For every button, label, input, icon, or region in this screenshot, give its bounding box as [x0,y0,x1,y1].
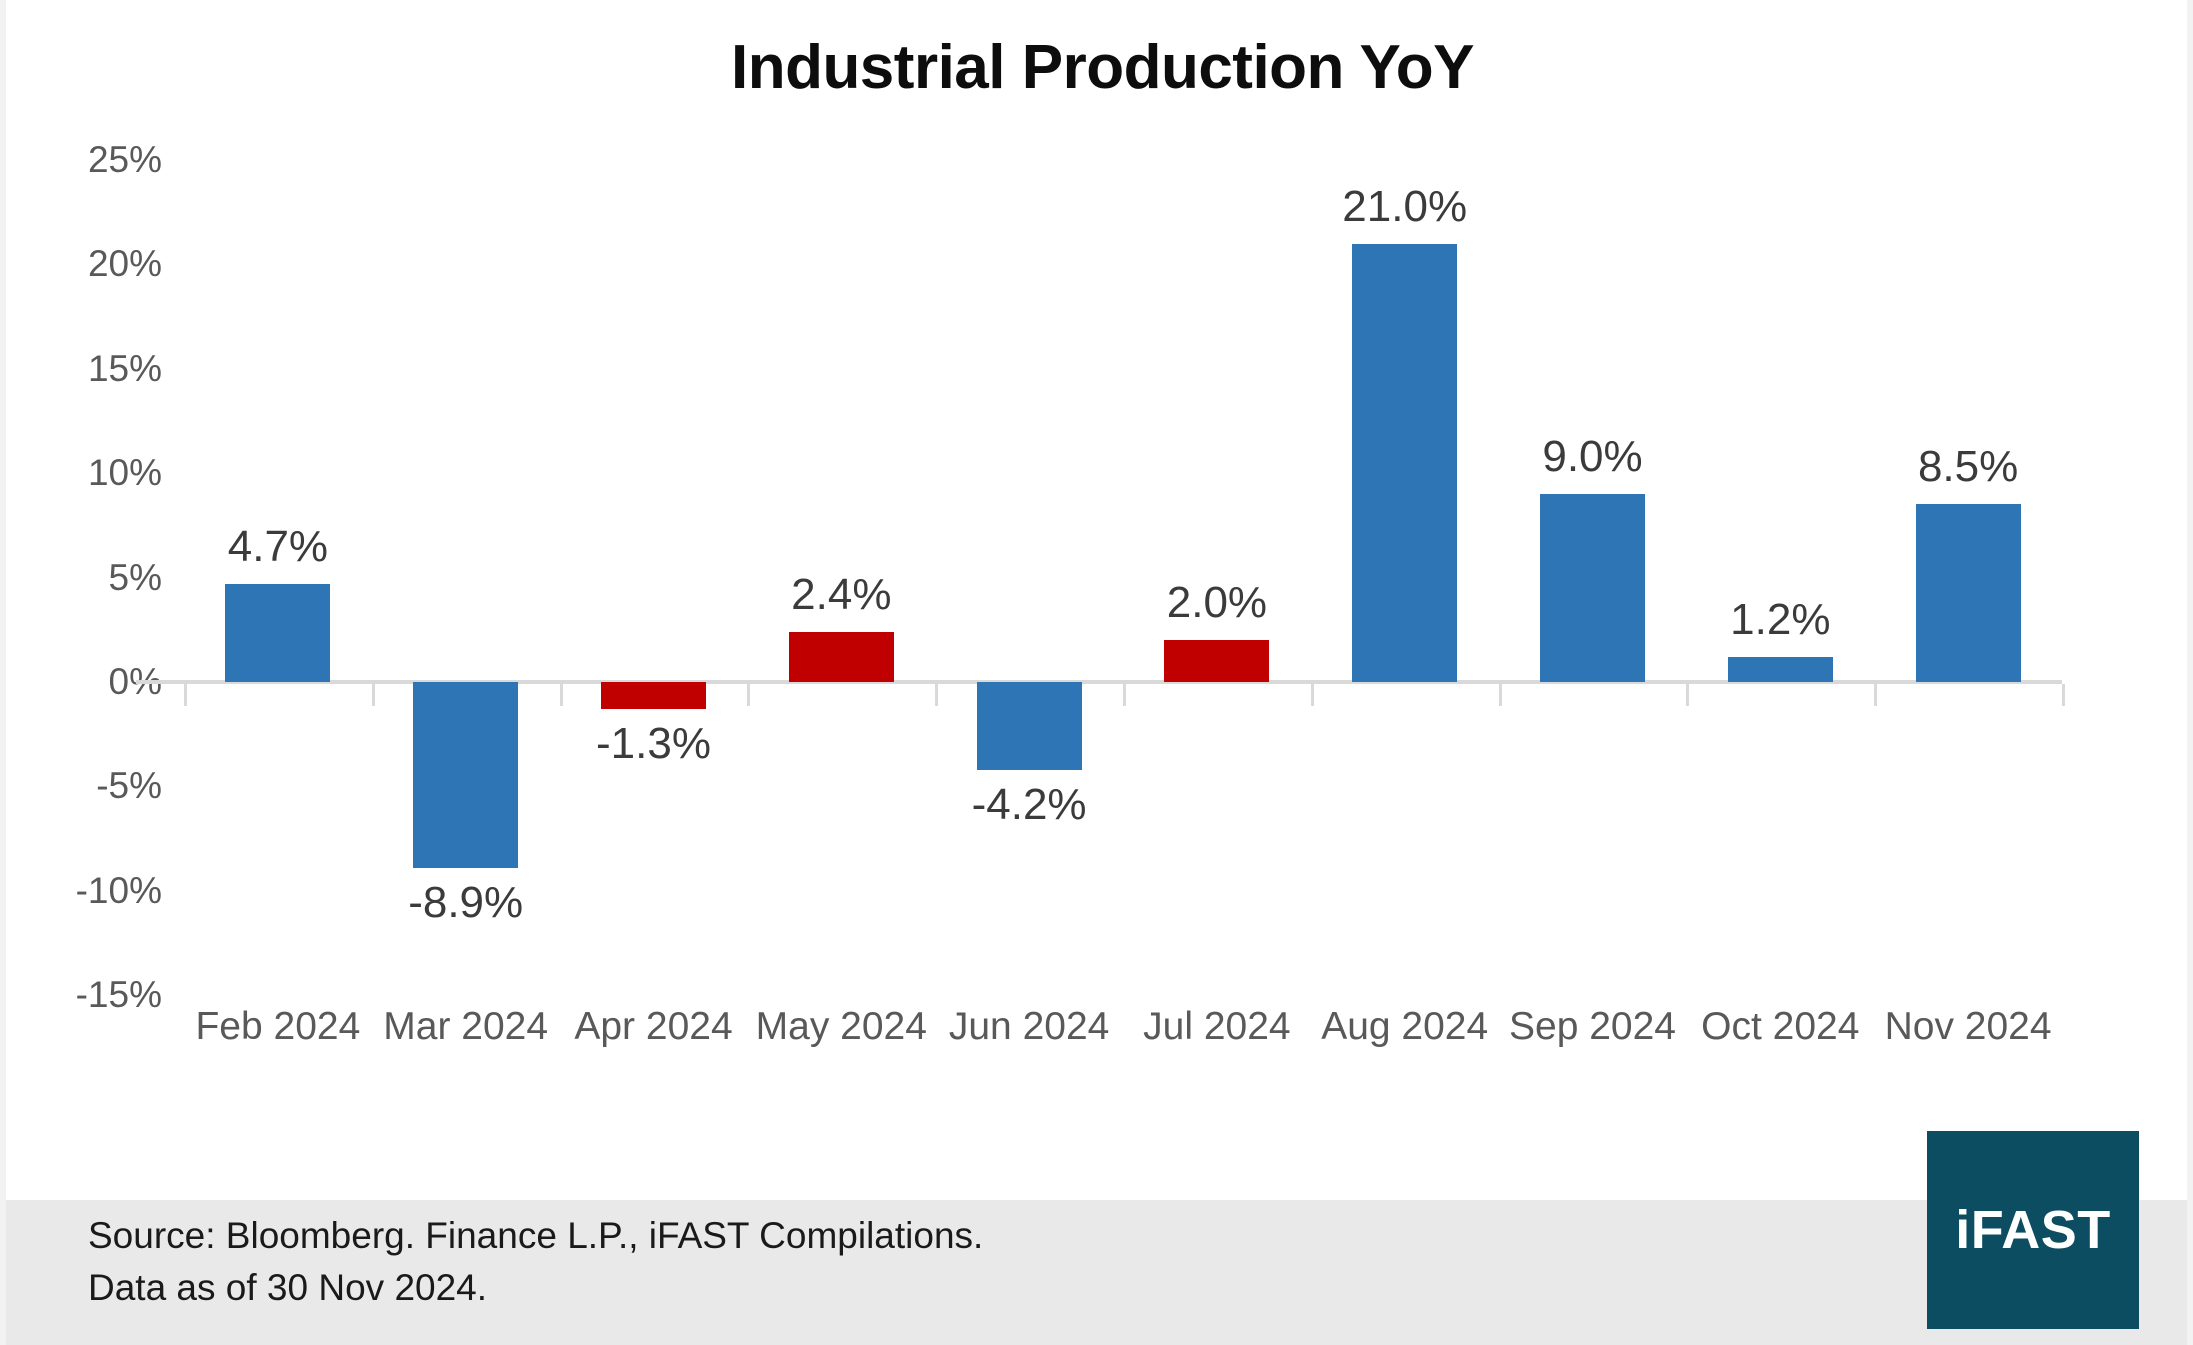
category-tick [1311,684,1314,706]
bar-value-label: 8.5% [1918,442,2018,492]
bar-may-2024[interactable] [789,632,894,682]
bar-value-label: 2.0% [1167,578,1267,628]
category-tick [560,684,563,706]
bar-apr-2024[interactable] [601,682,706,709]
y-axis-tick-label: -10% [76,870,162,912]
bar-mar-2024[interactable] [413,682,518,868]
bar-jul-2024[interactable] [1164,640,1269,682]
y-axis-tick-label: -15% [76,974,162,1016]
category-tick [1123,684,1126,706]
category-tick [184,684,187,706]
bar-value-label: 2.4% [791,570,891,620]
bar-jun-2024[interactable] [977,682,1082,770]
y-axis-tick-label: 25% [88,139,162,181]
category-tick [2062,684,2065,706]
y-axis-tick-label: 15% [88,348,162,390]
bar-value-label: 21.0% [1342,182,1467,232]
x-axis-tick-label: Jun 2024 [949,1005,1109,1049]
x-axis-tick-label: Nov 2024 [1885,1005,2052,1049]
bar-value-label: -8.9% [408,878,523,928]
x-axis-tick-label: Mar 2024 [383,1005,548,1049]
bar-value-label: 4.7% [228,522,328,572]
x-axis-tick-label: Feb 2024 [195,1005,360,1049]
category-tick [1499,684,1502,706]
bar-value-label: -4.2% [972,780,1087,830]
y-axis-tick-label: 20% [88,243,162,285]
x-axis-tick-label: Sep 2024 [1509,1005,1676,1049]
x-axis-tick-label: May 2024 [756,1005,927,1049]
x-axis-tick-label: Oct 2024 [1701,1005,1859,1049]
ifast-logo: iFAST [1927,1131,2139,1329]
bar-sep-2024[interactable] [1540,494,1645,682]
ifast-logo-text: iFAST [1955,1199,2111,1261]
bar-value-label: 1.2% [1730,595,1830,645]
bar-feb-2024[interactable] [225,584,330,682]
bar-aug-2024[interactable] [1352,244,1457,682]
y-axis-tick-label: 5% [109,557,162,599]
bar-value-label: 9.0% [1542,432,1642,482]
bar-nov-2024[interactable] [1916,504,2021,681]
category-tick [1686,684,1689,706]
y-axis-tick-label: 10% [88,452,162,494]
x-axis-tick-label: Aug 2024 [1321,1005,1488,1049]
x-axis-tick-label: Jul 2024 [1143,1005,1290,1049]
x-axis-tick-label: Apr 2024 [574,1005,732,1049]
category-tick [747,684,750,706]
chart-page: Industrial Production YoY 25%20%15%10%5%… [0,0,2193,1345]
category-tick [372,684,375,706]
bar-oct-2024[interactable] [1728,657,1833,682]
plot-area: 25%20%15%10%5%0%-5%-10%-15% 4.7%-8.9%-1.… [184,160,2062,995]
category-tick [935,684,938,706]
source-note: Source: Bloomberg. Finance L.P., iFAST C… [88,1210,983,1315]
category-tick [1874,684,1877,706]
page-title: Industrial Production YoY [6,32,2193,103]
y-axis-tick-label: -5% [96,765,162,807]
bar-value-label: -1.3% [596,719,711,769]
